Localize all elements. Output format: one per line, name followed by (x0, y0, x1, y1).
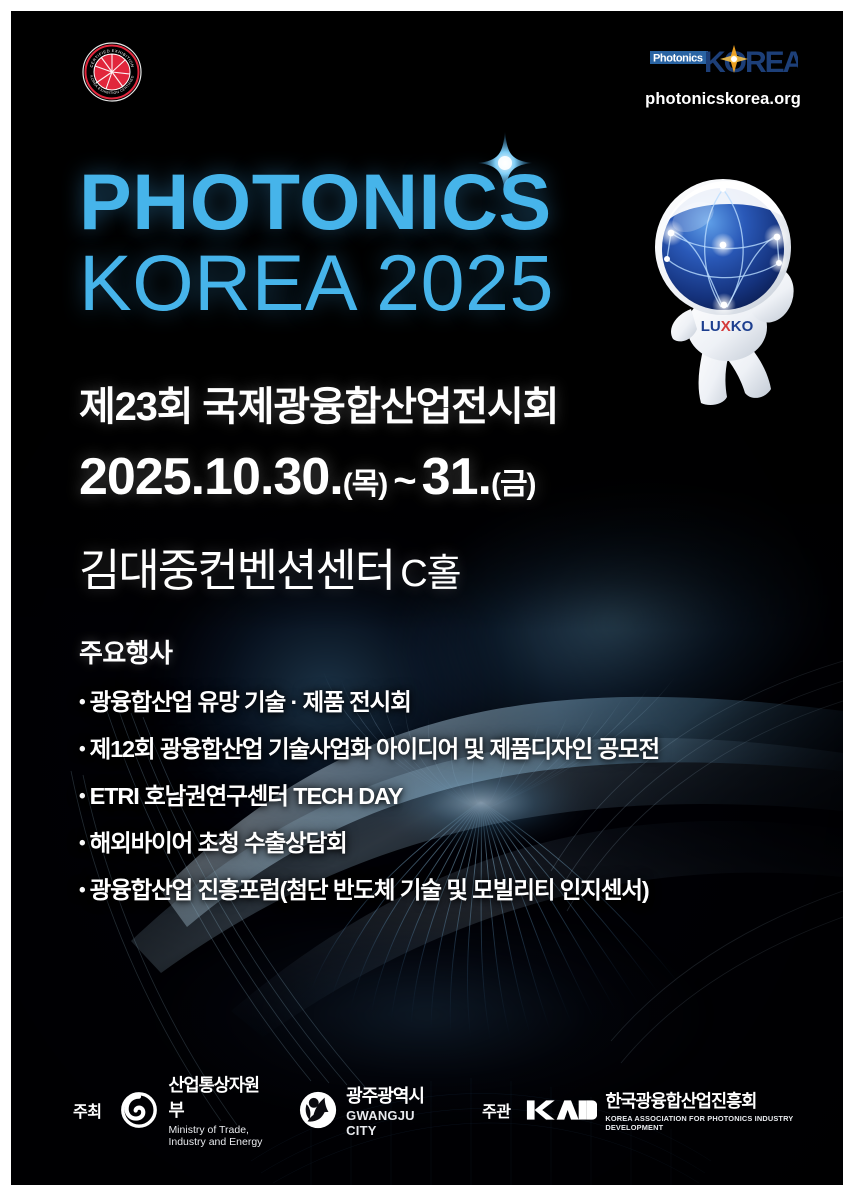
poster-canvas: CERTIFIED EXHIBITION KOREA EXHIBITION CE… (11, 11, 843, 1185)
event-list-item: •광융합산업 진흥포럼(첨단 반도체 기술 및 모빌리티 인지센서) (79, 871, 819, 905)
event-item-text: 광융합산업 진흥포럼(첨단 반도체 기술 및 모빌리티 인지센서) (90, 877, 649, 903)
date-range-tilde: ~ (387, 461, 421, 501)
event-list-item: •해외바이어 초청 수출상담회 (79, 824, 819, 858)
motie-english-line2: Industry and Energy (168, 1136, 269, 1148)
event-item-text: ETRI 호남권연구센터 TECH DAY (90, 783, 403, 809)
gwangju-korean-name: 광주광역시 (346, 1082, 444, 1108)
host-group: 주최 산업통상자원부 Ministry of Trade, Industry a… (73, 1072, 444, 1149)
motie-taegeuk-icon (119, 1089, 159, 1131)
host-label: 주최 (73, 1098, 101, 1122)
headline-block: PHOTONICS KOREA 2025 (79, 163, 554, 326)
venue-hall: C홀 (394, 553, 460, 595)
photonics-korea-brand-logo[interactable]: Photonics KOREA photonicskorea.org (645, 41, 801, 109)
event-item-text: 제12회 광융합산업 기술사업화 아이디어 및 제품디자인 공모전 (90, 736, 660, 762)
event-item-text: 광융합산업 유망 기술 · 제품 전시회 (90, 689, 411, 715)
motie-korean-name: 산업통상자원부 (168, 1072, 269, 1122)
kapid-icon (525, 1097, 598, 1123)
sponsor-footer: 주최 산업통상자원부 Ministry of Trade, Industry a… (11, 1079, 843, 1141)
kapid-english-name: KOREA ASSOCIATION FOR PHOTONICS INDUSTRY… (605, 1115, 843, 1132)
gwangju-logo: 광주광역시 GWANGJU CITY (299, 1082, 444, 1139)
event-item-text: 해외바이어 초청 수출상담회 (90, 830, 347, 856)
title-line-korea-year: KOREA 2025 (79, 240, 554, 325)
svg-text:KOREA: KOREA (704, 46, 798, 79)
motie-logo: 산업통상자원부 Ministry of Trade, Industry and … (119, 1072, 269, 1149)
event-subtitle: 제23회 국제광융합산업전시회 (79, 374, 558, 432)
event-list-item: •광융합산업 유망 기술 · 제품 전시회 (79, 683, 819, 717)
date-weekday-end: (금) (491, 470, 536, 500)
bullet-icon: • (79, 739, 90, 761)
main-events-section: 주요행사 •광융합산업 유망 기술 · 제품 전시회 •제12회 광융합산업 기… (79, 633, 819, 918)
brand-url-text[interactable]: photonicskorea.org (645, 90, 801, 109)
events-heading: 주요행사 (79, 633, 819, 670)
organizer-group: 주관 한국광융합산업진흥회 KOREA ASSOCIATION FOR PHOT… (482, 1088, 843, 1132)
organizer-label: 주관 (482, 1098, 510, 1122)
event-venue: 김대중컨벤션센터C홀 (79, 534, 461, 599)
gwangju-city-icon (299, 1090, 337, 1130)
photonics-korea-wordmark-icon: Photonics KOREA (648, 41, 798, 81)
event-list-item: •ETRI 호남권연구센터 TECH DAY (79, 777, 819, 811)
motie-english-line1: Ministry of Trade, (168, 1124, 269, 1136)
date-weekday-start: (목) (343, 470, 388, 500)
gwangju-english-name: GWANGJU CITY (346, 1108, 444, 1139)
date-main: 2025.10.30. (79, 451, 343, 503)
bullet-icon: • (79, 692, 90, 714)
kapid-logo: 한국광융합산업진흥회 KOREA ASSOCIATION FOR PHOTONI… (525, 1088, 844, 1132)
luxko-mascot: LUXKO (631, 159, 821, 409)
mascot-chest-logo: LUXKO (701, 318, 754, 335)
sparkle-star-icon (477, 131, 533, 195)
bullet-icon: • (79, 880, 90, 902)
venue-name: 김대중컨벤션센터 (79, 545, 394, 596)
kapid-korean-name: 한국광융합산업진흥회 (605, 1088, 843, 1113)
bullet-icon: • (79, 833, 90, 855)
certified-exhibition-seal-icon: CERTIFIED EXHIBITION KOREA EXHIBITION CE… (81, 41, 143, 103)
bullet-icon: • (79, 786, 90, 808)
date-end: 31. (422, 451, 491, 503)
event-date: 2025.10.30. (목) ~ 31. (금) (79, 451, 536, 503)
svg-text:Photonics: Photonics (653, 53, 703, 65)
event-list-item: •제12회 광융합산업 기술사업화 아이디어 및 제품디자인 공모전 (79, 730, 819, 764)
